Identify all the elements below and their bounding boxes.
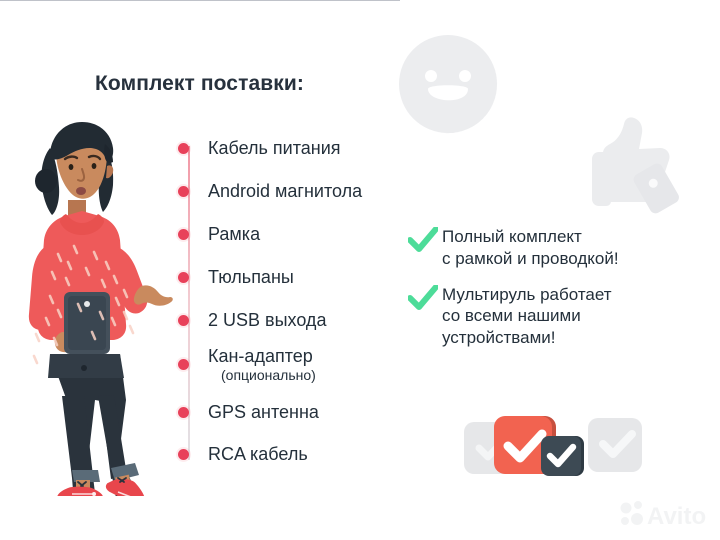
avito-watermark-text: Avito <box>647 503 706 530</box>
list-item-sublabel: (опционально) <box>221 367 316 383</box>
list-item-label: Тюльпаны <box>208 267 294 287</box>
bullet-dot-icon <box>178 186 189 197</box>
benefit-text: Полный комплект с рамкой и проводкой! <box>442 226 619 270</box>
bullet-dot-icon <box>178 359 189 370</box>
list-item-label: Кабель питания <box>208 138 341 158</box>
bullet-dot-icon <box>178 315 189 326</box>
thumbs-up-icon <box>572 112 684 218</box>
woman-with-tablet-illustration <box>6 104 178 496</box>
list-item: Тюльпаны <box>178 267 294 287</box>
list-item: Android магнитола <box>178 181 362 201</box>
list-item: RCA кабель <box>178 444 308 464</box>
list-item: 2 USB выхода <box>178 310 326 330</box>
checkbox-group-icon <box>462 410 642 488</box>
check-icon <box>408 285 438 311</box>
list-item-label: GPS антенна <box>208 402 319 422</box>
bullet-dot-icon <box>178 407 189 418</box>
bullet-dot-icon <box>178 449 189 460</box>
list-item-label: 2 USB выхода <box>208 310 326 330</box>
ground-line <box>0 0 400 1</box>
avito-watermark: Avito <box>618 498 714 532</box>
list-item: Кабель питания <box>178 138 341 158</box>
list-item: Кан-адаптер (опционально) <box>178 346 316 383</box>
list-item-label: Кан-адаптер <box>208 346 316 366</box>
benefit-text: Мультируль работает со всеми нашими устр… <box>442 284 612 349</box>
promo-canvas: Avito <box>0 0 720 540</box>
bullet-dot-icon <box>178 272 189 283</box>
list-item: GPS антенна <box>178 402 319 422</box>
bullet-dot-icon <box>178 229 189 240</box>
page-title: Комплект поставки: <box>95 72 304 96</box>
benefit-item: Мультируль работает со всеми нашими устр… <box>408 284 708 349</box>
benefit-item: Полный комплект с рамкой и проводкой! <box>408 226 708 270</box>
check-icon <box>408 227 438 253</box>
benefits-list: Полный комплект с рамкой и проводкой! Му… <box>408 226 708 349</box>
list-item-label: RCA кабель <box>208 444 308 464</box>
smiley-face-icon <box>396 32 500 136</box>
list-item-label: Android магнитола <box>208 181 362 201</box>
list-item: Рамка <box>178 224 260 244</box>
list-item-label: Рамка <box>208 224 260 244</box>
bullet-dot-icon <box>178 143 189 154</box>
